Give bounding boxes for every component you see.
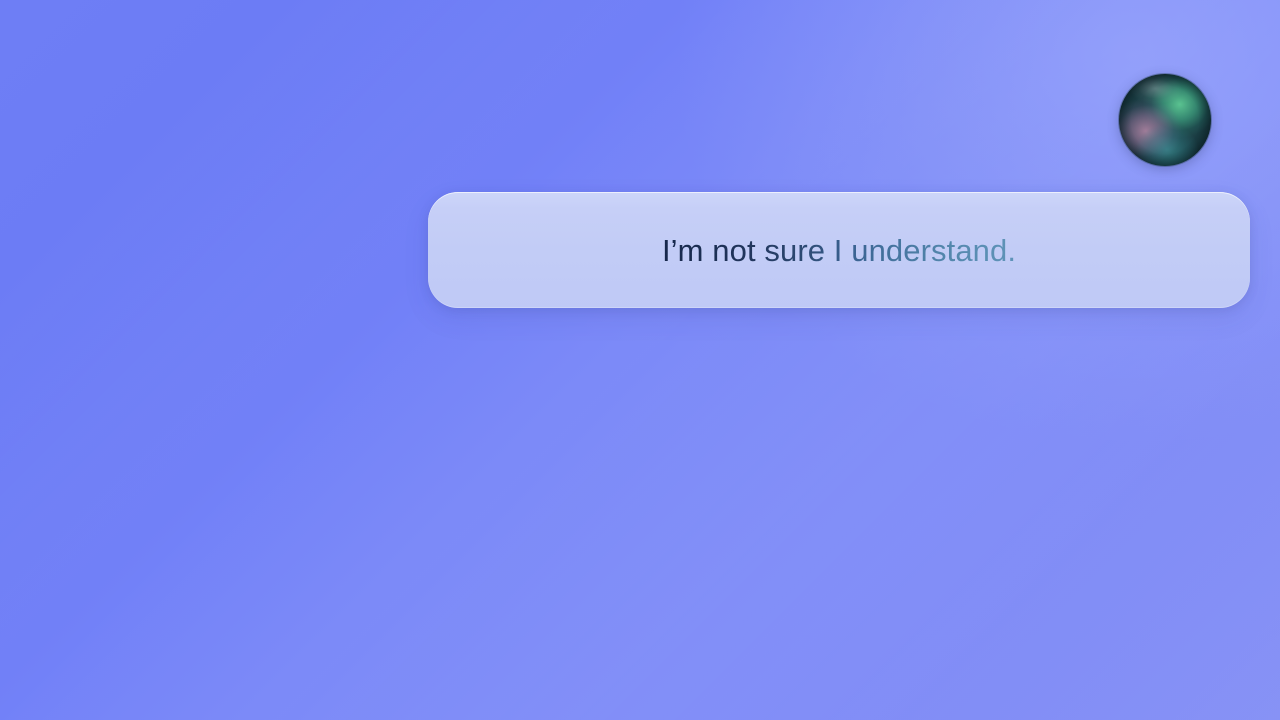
siri-screen: I’m not sure I understand.	[0, 0, 1280, 720]
response-text: I’m not sure I understand.	[662, 235, 1016, 266]
siri-orb-icon[interactable]	[1119, 74, 1211, 166]
background-diagonal-band	[0, 0, 1280, 720]
response-bubble[interactable]: I’m not sure I understand.	[428, 192, 1250, 308]
siri-orb-specular	[1119, 74, 1211, 166]
background-diagonal-band-shadow	[0, 0, 1280, 720]
